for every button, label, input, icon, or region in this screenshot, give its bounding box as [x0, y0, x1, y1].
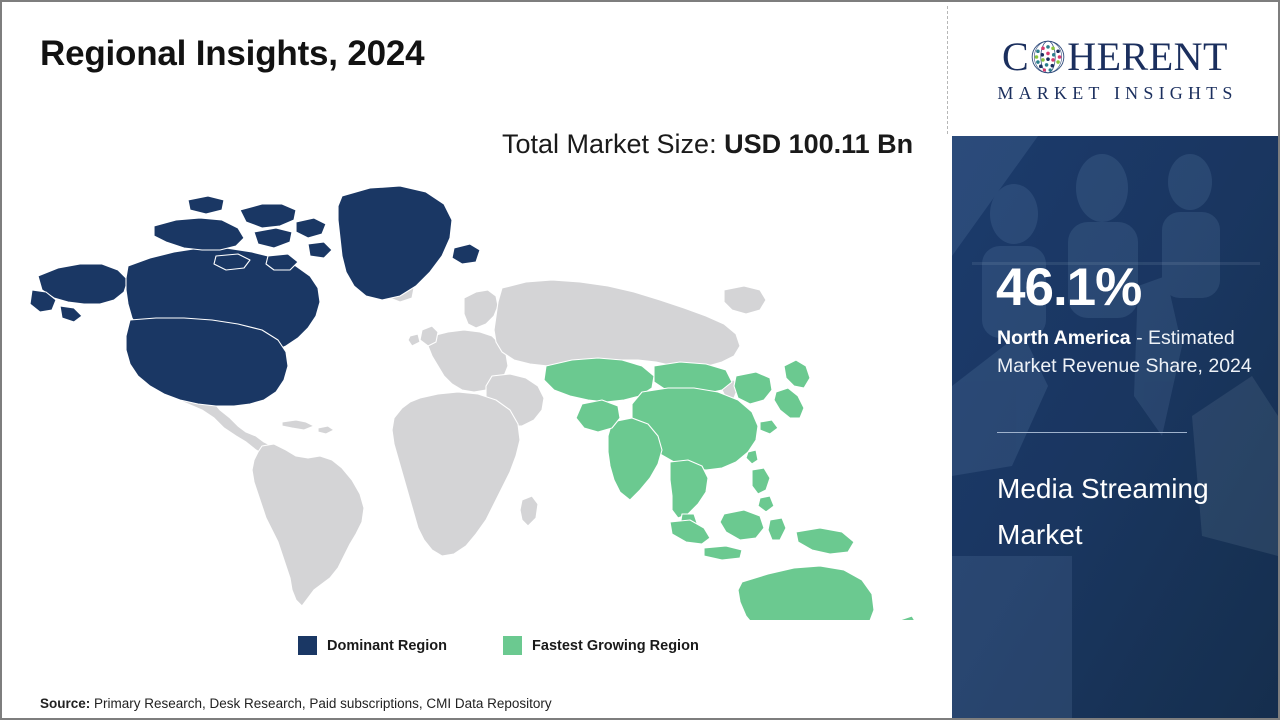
dotted-globe-icon — [1030, 39, 1066, 75]
panel-content: 46.1% North America - Estimated Market R… — [952, 136, 1278, 718]
left-content-pane: Regional Insights, 2024 Total Market Siz… — [2, 2, 950, 718]
vertical-dashed-divider — [947, 6, 948, 134]
legend-item-dominant: Dominant Region — [298, 636, 447, 655]
world-map-svg — [24, 170, 924, 620]
world-map — [24, 170, 924, 620]
highlight-panel: 46.1% North America - Estimated Market R… — [952, 136, 1278, 718]
logo-text-herent: HERENT — [1067, 37, 1228, 77]
logo-subtitle: MARKET INSIGHTS — [992, 83, 1237, 104]
legend-item-fastest-growing: Fastest Growing Region — [503, 636, 699, 655]
map-legend: Dominant Region Fastest Growing Region — [298, 636, 699, 655]
dominant-region-swatch — [298, 636, 317, 655]
logo-wordmark-row: C — [1002, 35, 1228, 79]
logo-letter-c: C — [1002, 37, 1029, 77]
total-market-size-value: USD 100.11 Bn — [724, 129, 913, 159]
map-region-asia-pacific — [544, 358, 918, 620]
page-title: Regional Insights, 2024 — [40, 34, 424, 74]
source-label: Source: — [40, 696, 90, 711]
stat-region-name: North America — [997, 327, 1131, 349]
source-text: Primary Research, Desk Research, Paid su… — [90, 696, 551, 711]
fastest-growing-region-swatch — [503, 636, 522, 655]
stat-value: 46.1% — [996, 261, 1141, 314]
legend-label-dominant: Dominant Region — [327, 638, 447, 654]
market-name: Media Streaming Market — [997, 466, 1237, 558]
brand-logo: C — [952, 2, 1278, 136]
panel-divider-rule — [997, 432, 1187, 433]
source-note: Source: Primary Research, Desk Research,… — [40, 696, 552, 711]
legend-label-fastest-growing: Fastest Growing Region — [532, 638, 699, 654]
infographic-canvas: Regional Insights, 2024 Total Market Siz… — [2, 2, 1278, 718]
total-market-size: Total Market Size: USD 100.11 Bn — [502, 126, 927, 162]
total-market-size-label: Total Market Size: — [502, 129, 724, 159]
stat-description: North America - Estimated Market Revenue… — [997, 324, 1259, 381]
